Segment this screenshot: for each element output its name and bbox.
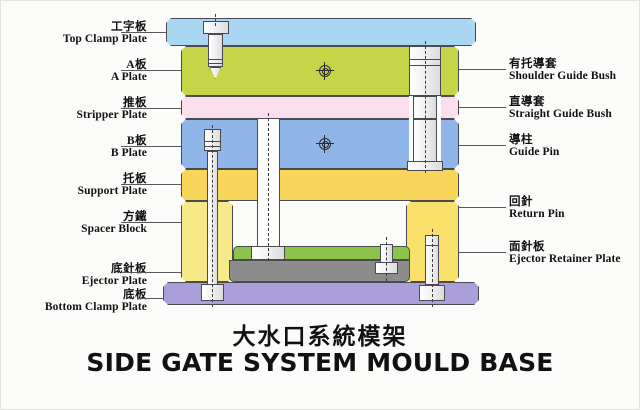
centre-rod-edge bbox=[279, 119, 280, 249]
label-en: Return Pin bbox=[509, 208, 565, 220]
label-en: B Plate bbox=[111, 147, 147, 159]
label-cn: 面針板 bbox=[509, 241, 621, 253]
label-en: Support Plate bbox=[78, 185, 147, 197]
leader-a-plate bbox=[121, 70, 186, 71]
label-ejector-plate: 底針板 Ejector Plate bbox=[82, 263, 147, 288]
label-straight-guide-bush: 直導套 Straight Guide Bush bbox=[509, 96, 612, 121]
label-en: Spacer Block bbox=[81, 223, 147, 235]
label-support-plate: 托板 Support Plate bbox=[78, 173, 147, 198]
label-bottom-clamp-plate: 底板 Bottom Clamp Plate bbox=[45, 289, 147, 314]
guide-pin-centreline bbox=[425, 41, 426, 173]
label-cn: 導柱 bbox=[509, 134, 559, 146]
label-stripper-plate: 推板 Stripper Plate bbox=[77, 97, 148, 122]
title-english: SIDE GATE SYSTEM MOULD BASE bbox=[1, 348, 639, 377]
label-cn: 有托導套 bbox=[509, 58, 616, 70]
label-en: Straight Guide Bush bbox=[509, 108, 612, 120]
return-pin-centreline bbox=[386, 237, 387, 281]
label-en: Bottom Clamp Plate bbox=[45, 301, 147, 313]
title-chinese: 大水口系統模架 bbox=[1, 317, 639, 351]
centre-mark-icon bbox=[316, 135, 334, 153]
label-en: Ejector Plate bbox=[82, 275, 147, 287]
screw-thread-line bbox=[208, 63, 223, 64]
label-spacer-block: 方鐵 Spacer Block bbox=[81, 211, 147, 236]
label-en: A Plate bbox=[111, 71, 147, 83]
label-en: Ejector Retainer Plate bbox=[509, 253, 621, 265]
leader-b-plate bbox=[121, 146, 186, 147]
label-en: Top Clamp Plate bbox=[63, 33, 147, 45]
label-shoulder-guide-bush: 有托導套 Shoulder Guide Bush bbox=[509, 58, 616, 83]
label-en: Shoulder Guide Bush bbox=[509, 70, 616, 82]
leader-support-plate bbox=[121, 184, 186, 185]
label-cn: 回針 bbox=[509, 196, 565, 208]
ejector-pin-centreline bbox=[212, 125, 213, 307]
centre-rod-edge bbox=[257, 119, 258, 259]
label-top-clamp-plate: 工字板 Top Clamp Plate bbox=[63, 21, 147, 46]
label-guide-pin: 導柱 Guide Pin bbox=[509, 134, 559, 159]
centre-rod-centreline bbox=[268, 113, 269, 261]
label-a-plate: A板 A Plate bbox=[111, 59, 147, 84]
return-pin-outer-centreline bbox=[432, 229, 433, 307]
leader-spacer-block bbox=[121, 222, 186, 223]
part-cap-screw-head bbox=[203, 21, 229, 34]
label-return-pin: 回針 Return Pin bbox=[509, 196, 565, 221]
label-en: Guide Pin bbox=[509, 146, 559, 158]
label-b-plate: B板 B Plate bbox=[111, 135, 147, 160]
leader-stripper-plate bbox=[121, 108, 186, 109]
cap-screw-centreline bbox=[215, 14, 216, 26]
label-cn: 直導套 bbox=[509, 96, 612, 108]
label-cn: 底針板 bbox=[82, 263, 147, 275]
label-cn: 底板 bbox=[45, 289, 147, 301]
centre-mark-icon bbox=[316, 62, 334, 80]
part-support-plate bbox=[181, 169, 459, 201]
screw-thread-line bbox=[208, 59, 223, 60]
label-ejector-retainer-plate: 面針板 Ejector Retainer Plate bbox=[509, 241, 621, 266]
mould-base-diagram: 工字板 Top Clamp Plate A板 A Plate 推板 Stripp… bbox=[0, 0, 640, 410]
label-en: Stripper Plate bbox=[77, 109, 148, 121]
